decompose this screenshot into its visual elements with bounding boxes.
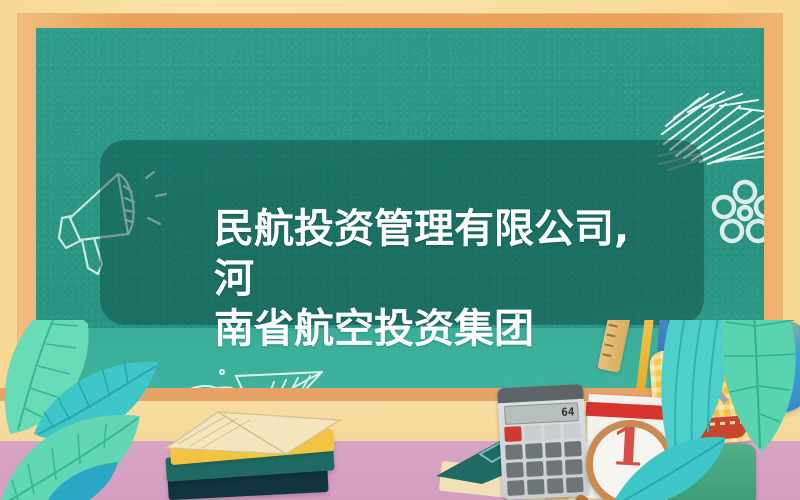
- calculator-key-5[interactable]: [526, 461, 544, 477]
- ruler: [597, 320, 644, 373]
- desk-scene: Home School 1 64: [0, 320, 800, 500]
- calculator-key-sub[interactable]: [566, 477, 584, 493]
- calculator[interactable]: 64: [497, 384, 589, 500]
- calculator-key-b[interactable]: [544, 424, 562, 440]
- flower-icon: [708, 176, 764, 250]
- leaf-bottom-right: [608, 432, 728, 500]
- calculator-key-2[interactable]: [527, 479, 545, 495]
- calculator-keypad[interactable]: [504, 423, 584, 496]
- leaf-big-right: [716, 320, 800, 456]
- calculator-key-6[interactable]: [545, 460, 563, 476]
- calculator-key-c[interactable]: [563, 423, 581, 439]
- calculator-key-a[interactable]: [524, 425, 542, 441]
- calculator-key-3[interactable]: [546, 478, 564, 494]
- calculator-key-div[interactable]: [564, 441, 582, 457]
- calculator-key-8[interactable]: [525, 443, 543, 459]
- calculator-key-7[interactable]: [505, 444, 523, 460]
- calculator-key-1[interactable]: [507, 480, 525, 496]
- calculator-key-9[interactable]: [545, 442, 563, 458]
- calculator-display: 64: [504, 402, 579, 425]
- stationery-group: Home School 1 64: [490, 320, 800, 500]
- calculator-brand-bar: [497, 384, 584, 403]
- calculator-key-4[interactable]: [506, 462, 524, 478]
- calculator-key-ac[interactable]: [504, 426, 522, 442]
- banner-image: 民航投资管理有限公司,河 南省航空投资集团: [0, 0, 800, 500]
- leaf-small-blue-left: [40, 460, 120, 500]
- page-title-line-1: 民航投资管理有限公司,河: [214, 204, 654, 304]
- calculator-key-mul[interactable]: [565, 459, 583, 475]
- open-book-cream: [164, 408, 344, 458]
